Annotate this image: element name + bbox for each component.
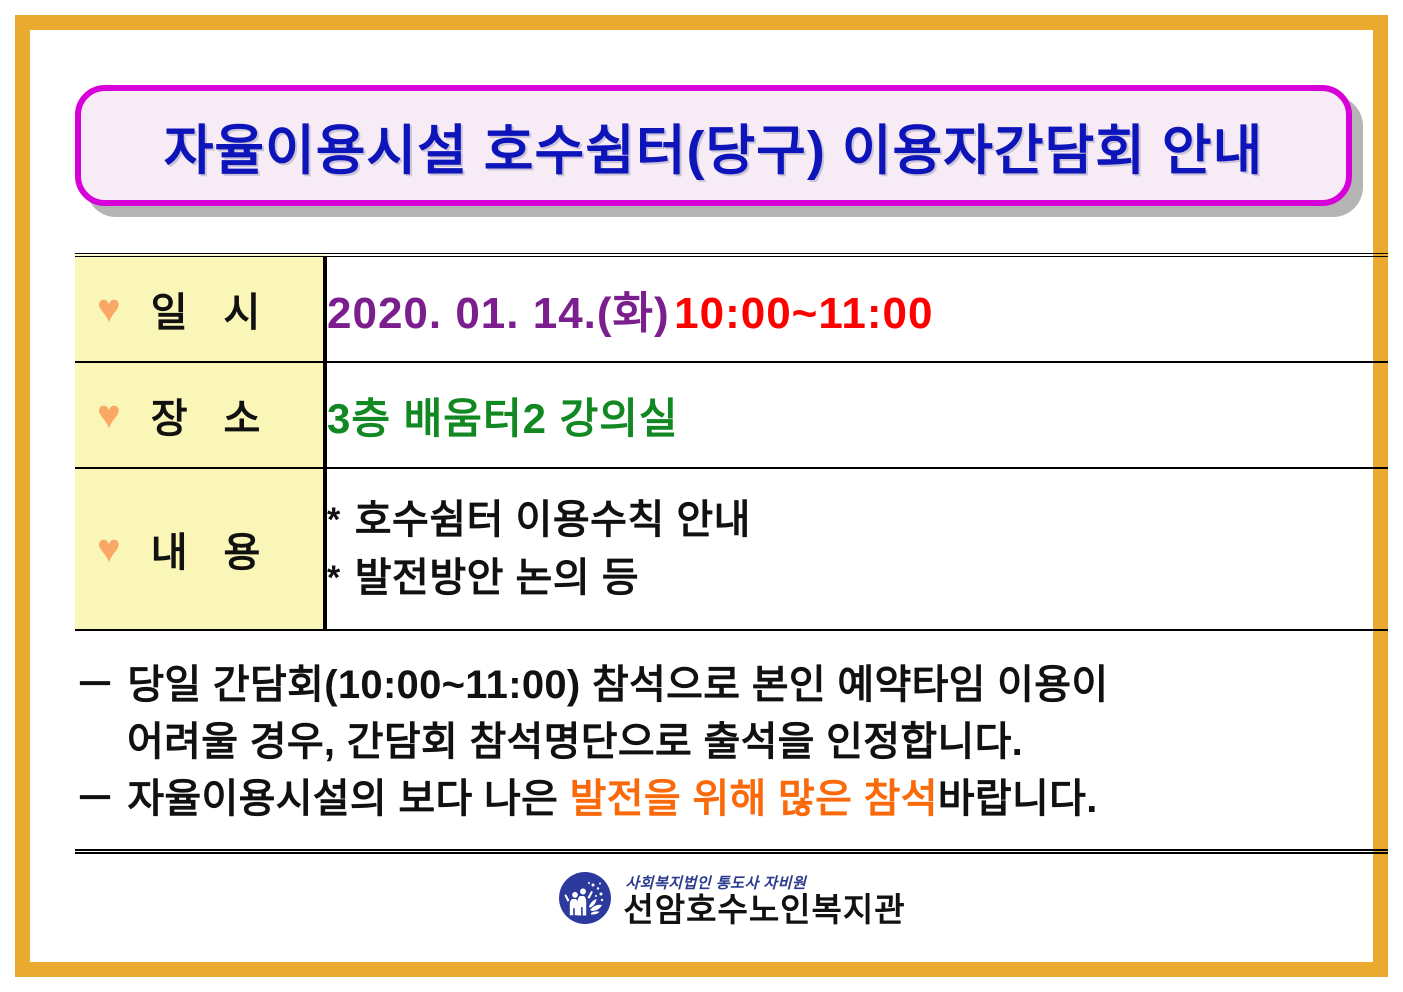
event-date: 2020. 01. 14.(화)	[327, 289, 670, 338]
heart-icon: ♥	[97, 529, 121, 569]
poster-root: 자율이용시설 호수쉼터(당구) 이용자간담회 안내 ♥ 일시 202	[0, 0, 1403, 992]
row-value-content: *호수쉼터 이용수칙 안내 *발전방안 논의 등	[325, 468, 1388, 630]
organization-subtitle: 사회복지법인 통도사 자비원	[623, 876, 806, 891]
content-item: *호수쉼터 이용수칙 안내	[327, 491, 1388, 549]
info-table: ♥ 일시 2020. 01. 14.(화) 10:00~11:00 ♥	[75, 253, 1388, 631]
heart-icon: ♥	[97, 289, 121, 329]
poster-content: 자율이용시설 호수쉼터(당구) 이용자간담회 안내 ♥ 일시 202	[75, 75, 1388, 977]
asterisk-icon: *	[327, 501, 355, 539]
note-line-3-prefix: 자율이용시설의 보다 나은	[127, 777, 569, 821]
row-label-content: ♥ 내용	[75, 468, 325, 630]
poster-outer-frame: 자율이용시설 호수쉼터(당구) 이용자간담회 안내 ♥ 일시 202	[15, 15, 1388, 977]
row-label-text: 일시	[143, 280, 297, 338]
row-label-text: 내용	[143, 520, 297, 578]
row-value-datetime: 2020. 01. 14.(화) 10:00~11:00	[325, 255, 1388, 362]
note-line-3-highlight: 발전을 위해 많은 참석	[570, 777, 938, 821]
dash-marker: －	[75, 663, 127, 707]
note-line-1-text: 당일 간담회(10:00~11:00) 참석으로 본인 예약타임 이용이	[127, 663, 1108, 707]
organization-name: 선암호수노인복지관	[623, 893, 905, 926]
table-row: ♥ 장소 3층 배움터2 강의실	[75, 362, 1388, 468]
heart-icon: ♥	[97, 395, 121, 435]
table-row: ♥ 일시 2020. 01. 14.(화) 10:00~11:00	[75, 255, 1388, 362]
title-banner-box: 자율이용시설 호수쉼터(당구) 이용자간담회 안내	[75, 85, 1352, 206]
footer-divider	[75, 849, 1388, 854]
note-line-1: －당일 간담회(10:00~11:00) 참석으로 본인 예약타임 이용이	[75, 657, 1388, 714]
page-title: 자율이용시설 호수쉼터(당구) 이용자간담회 안내	[164, 106, 1264, 185]
title-banner: 자율이용시설 호수쉼터(당구) 이용자간담회 안내	[75, 85, 1363, 217]
footer-text-block: 사회복지법인 통도사 자비원 선암호수노인복지관	[623, 876, 905, 926]
row-value-place: 3층 배움터2 강의실	[325, 362, 1388, 468]
note-line-3-suffix: 바랍니다.	[938, 777, 1098, 821]
event-time: 10:00~11:00	[674, 289, 933, 338]
content-item-text: 발전방안 논의 등	[355, 556, 639, 600]
asterisk-icon: *	[327, 559, 355, 597]
row-label-text: 장소	[143, 386, 297, 444]
note-line-2: 어려울 경우, 간담회 참석명단으로 출석을 인정합니다.	[75, 714, 1388, 771]
row-label-datetime: ♥ 일시	[75, 255, 325, 362]
footer-logo: 사회복지법인 통도사 자비원 선암호수노인복지관	[75, 870, 1388, 931]
table-row: ♥ 내용 *호수쉼터 이용수칙 안내 *발전방안 논의 등	[75, 468, 1388, 630]
organization-emblem-icon	[557, 870, 613, 931]
notes-section: －당일 간담회(10:00~11:00) 참석으로 본인 예약타임 이용이 어려…	[75, 657, 1388, 827]
dash-marker: －	[75, 777, 127, 821]
content-item: *발전방안 논의 등	[327, 549, 1388, 607]
note-line-3: －자율이용시설의 보다 나은 발전을 위해 많은 참석바랍니다.	[75, 771, 1388, 828]
content-item-text: 호수쉼터 이용수칙 안내	[355, 498, 751, 542]
event-place: 3층 배움터2 강의실	[327, 395, 679, 442]
row-label-place: ♥ 장소	[75, 362, 325, 468]
